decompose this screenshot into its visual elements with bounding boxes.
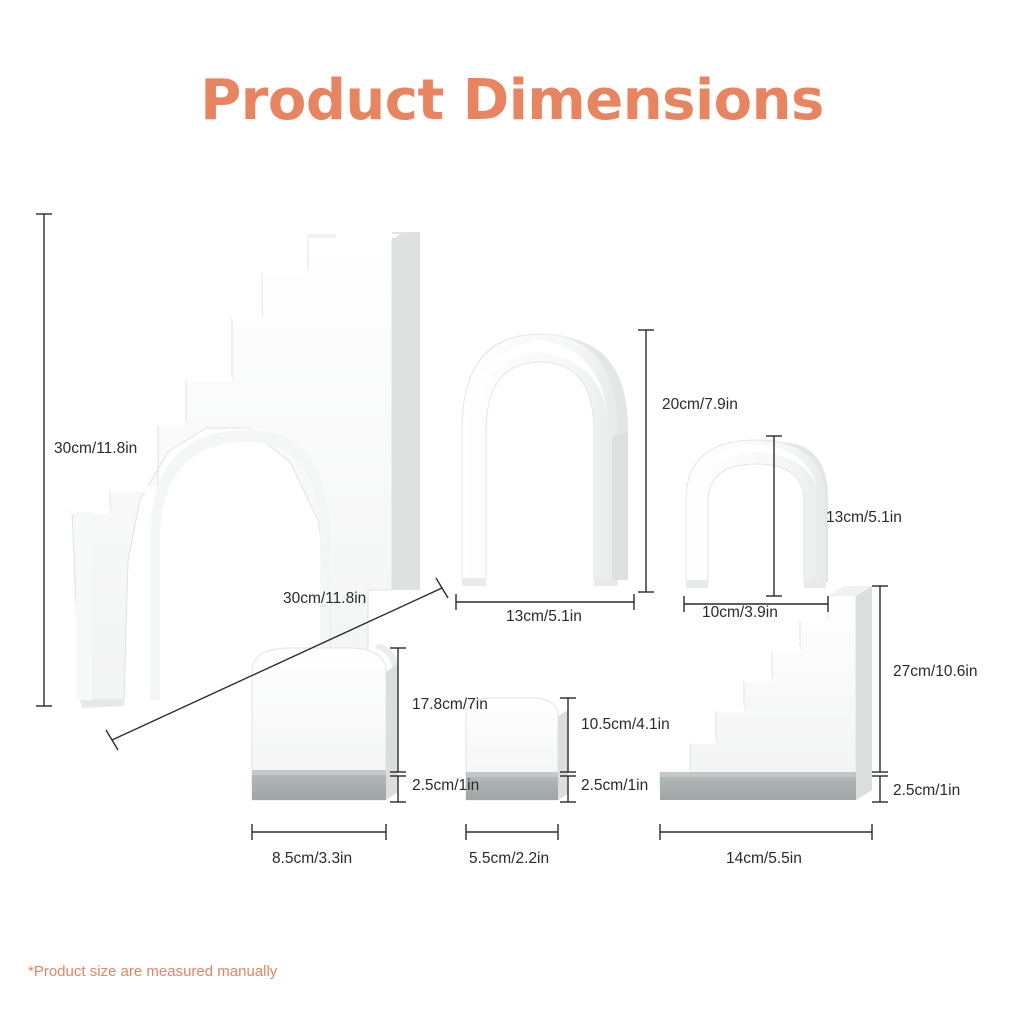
label-large-base-width: 8.5cm/3.3in (272, 850, 352, 868)
footnote: *Product size are measured manually (28, 963, 277, 980)
large-arch-art (462, 334, 628, 586)
label-stair-arch-height: 30cm/11.8in (54, 440, 137, 458)
label-stair-block-width: 14cm/5.5in (726, 850, 802, 868)
label-stair-block-height: 27cm/10.6in (893, 663, 977, 681)
label-small-base-thickness: 2.5cm/1in (581, 777, 648, 795)
label-stair-block-thickness: 2.5cm/1in (893, 782, 960, 800)
label-large-base-height: 17.8cm/7in (412, 696, 488, 714)
small-arch-art (686, 440, 828, 588)
label-stair-arch-depth: 30cm/11.8in (283, 590, 366, 608)
label-small-base-width: 5.5cm/2.2in (469, 850, 549, 868)
large-arched-base-art (252, 644, 398, 800)
label-small-base-height: 10.5cm/4.1in (581, 716, 670, 734)
label-small-arch-height: 13cm/5.1in (826, 509, 902, 527)
diagram-canvas: Product Dimensions (0, 0, 1024, 1024)
label-small-arch-width: 10cm/3.9in (702, 604, 778, 622)
label-large-arch-height: 20cm/7.9in (662, 396, 738, 414)
label-large-base-thickness: 2.5cm/1in (412, 777, 479, 795)
label-large-arch-width: 13cm/5.1in (506, 608, 582, 626)
